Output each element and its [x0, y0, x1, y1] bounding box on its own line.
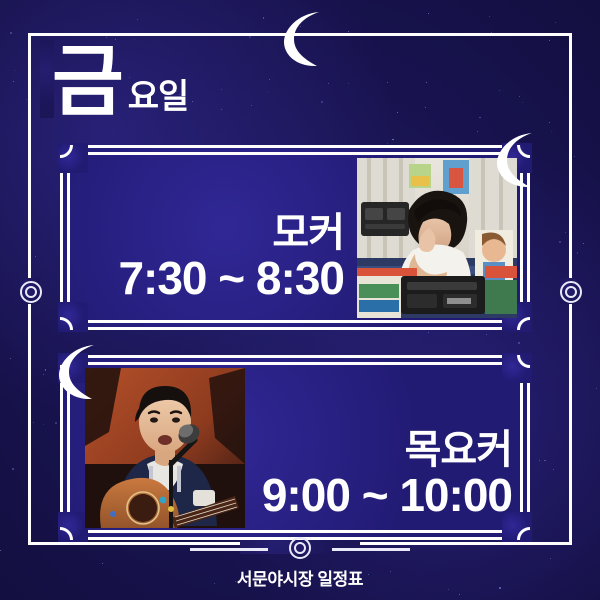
- crescent-moon-card-2-icon: [47, 341, 105, 408]
- crescent-moon-card-1-icon: [485, 129, 543, 196]
- footer-ornament: [190, 537, 410, 559]
- card-1-name: 모커: [78, 213, 344, 254]
- card-2-photo-illustration: [85, 368, 245, 528]
- footer-line-right: [332, 548, 410, 551]
- footer-line-left: [190, 548, 268, 551]
- card-2-photo: [85, 368, 245, 528]
- schedule-card-1[interactable]: 모커 7:30 ~ 8:30: [60, 145, 530, 330]
- footer-title: 서문야시장 일정표: [0, 565, 600, 590]
- footer: 서문야시장 일정표: [0, 537, 600, 590]
- card-1-time: 7:30 ~ 8:30: [78, 254, 344, 302]
- schedule-poster: 금 요일: [0, 0, 600, 600]
- title-main-text: 금: [52, 46, 122, 118]
- schedule-card-2[interactable]: 목요커 9:00 ~ 10:00: [60, 355, 530, 540]
- card-2-time: 9:00 ~ 10:00: [256, 471, 512, 519]
- card-2-name: 목요커: [256, 430, 512, 471]
- card-1-text: 모커 7:30 ~ 8:30: [78, 213, 344, 302]
- footer-ring-icon: [289, 537, 311, 559]
- ring-right-icon: [560, 281, 582, 303]
- ring-left-icon: [20, 281, 42, 303]
- title-sub-text: 요일: [122, 80, 189, 118]
- card-2-text: 목요커 9:00 ~ 10:00: [256, 430, 512, 519]
- crescent-moon-top-icon: [272, 8, 330, 75]
- poster-title: 금 요일: [52, 46, 188, 118]
